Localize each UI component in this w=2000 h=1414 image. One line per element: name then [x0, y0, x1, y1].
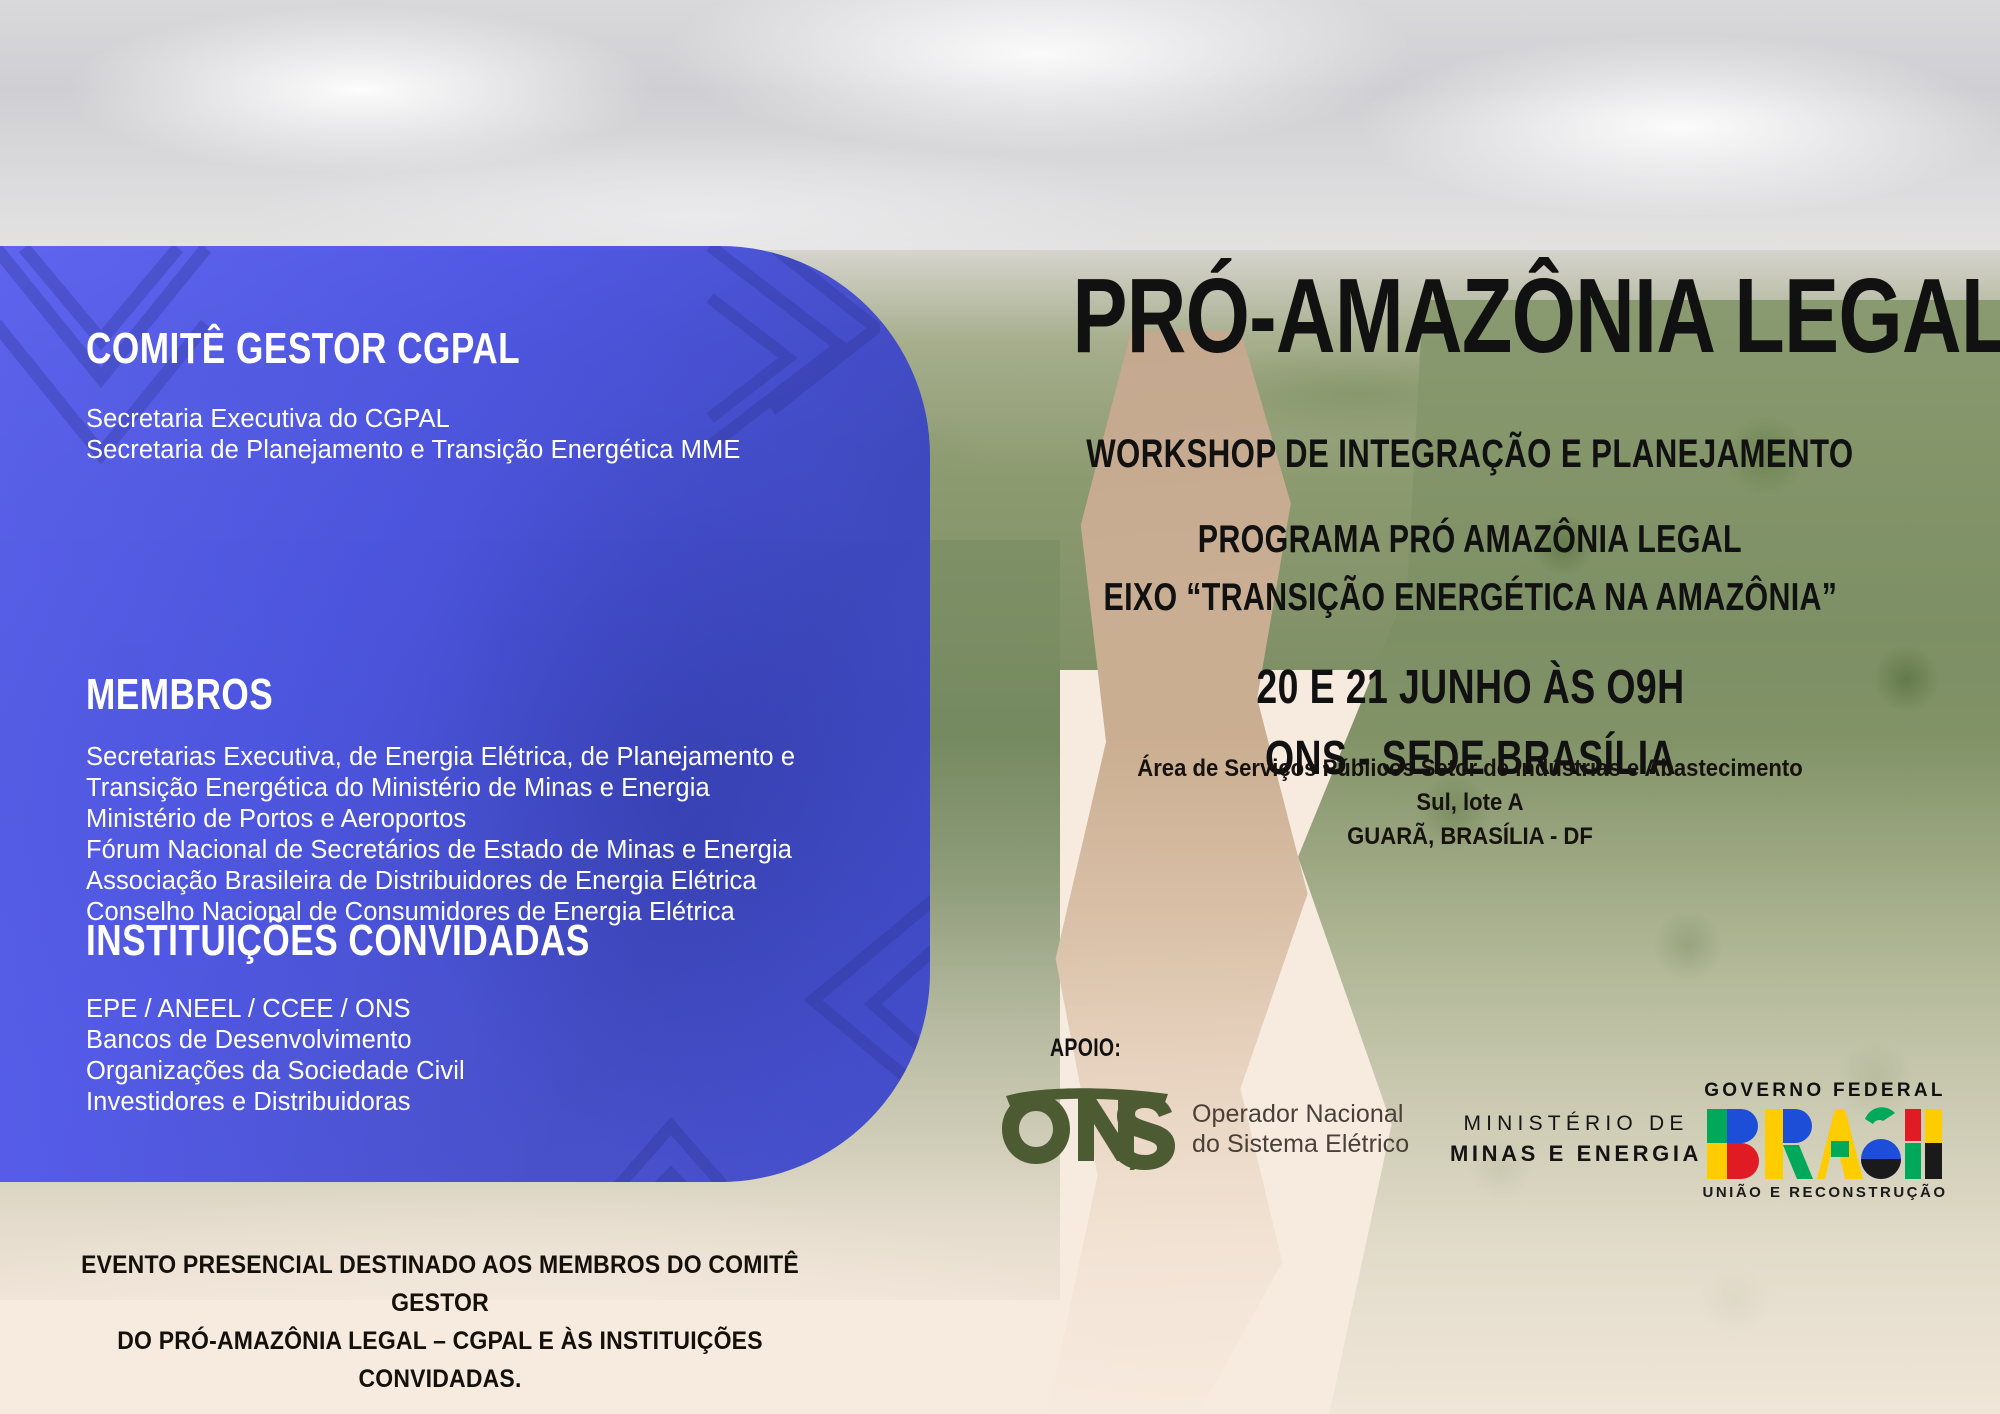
members-lines: Secretarias Executiva, de Energia Elétri… — [86, 742, 795, 928]
invited-line: Investidores e Distribuidoras — [86, 1087, 465, 1118]
committee-line: Secretaria Executiva do CGPAL — [86, 404, 740, 435]
ons-mark-icon — [1000, 1088, 1176, 1170]
program-line-1: PROGRAMA PRÓ AMAZÔNIA LEGAL — [940, 518, 2000, 562]
invited-line: EPE / ANEEL / CCEE / ONS — [86, 994, 465, 1025]
members-heading: MEMBROS — [86, 670, 273, 720]
ons-line-2: do Sistema Elétrico — [1192, 1129, 1409, 1160]
mme-logo: MINISTÉRIO DE MINAS E ENERGIA — [1450, 1112, 1702, 1167]
logo-row: Operador Nacional do Sistema Elétrico MI… — [1000, 1080, 2000, 1210]
address-line: Sul, lote A — [982, 786, 1957, 820]
committee-line: Secretaria de Planejamento e Transição E… — [86, 435, 740, 466]
member-line: Ministério de Portos e Aeroportos — [86, 804, 795, 835]
poster-title-text: PRÓ-AMAZÔNIA LEGAL — [1072, 263, 2000, 369]
brasil-mark-icon — [1705, 1107, 1945, 1181]
chevron-up-icon — [556, 1086, 786, 1182]
poster-subtitle-text: WORKSHOP DE INTEGRAÇÃO E PLANEJAMENTO — [1086, 434, 1853, 474]
mme-line-2: MINAS E ENERGIA — [1450, 1141, 1702, 1167]
mme-line-1: MINISTÉRIO DE — [1450, 1112, 1702, 1136]
gov-bottom-text: UNIÃO E RECONSTRUÇÃO — [1700, 1184, 1950, 1201]
event-address: Área de Serviços Públicos Setor de Indús… — [940, 752, 2000, 854]
event-poster: COMITÊ GESTOR CGPAL Secretaria Executiva… — [0, 0, 2000, 1414]
address-line: GUARÃ, BRASÍLIA - DF — [982, 820, 1957, 854]
member-line: Secretarias Executiva, de Energia Elétri… — [86, 742, 795, 773]
program-block: PROGRAMA PRÓ AMAZÔNIA LEGAL EIXO “TRANSI… — [940, 518, 2000, 634]
poster-subtitle: WORKSHOP DE INTEGRAÇÃO E PLANEJAMENTO — [940, 432, 2000, 477]
address-line: Área de Serviços Públicos Setor de Indús… — [982, 752, 1957, 786]
main-content: PRÓ-AMAZÔNIA LEGAL WORKSHOP DE INTEGRAÇÃ… — [940, 0, 2000, 1414]
cgpal-panel: COMITÊ GESTOR CGPAL Secretaria Executiva… — [0, 246, 930, 1182]
chevron-down-icon — [0, 246, 216, 528]
poster-title: PRÓ-AMAZÔNIA LEGAL — [940, 256, 2000, 377]
invited-line: Organizações da Sociedade Civil — [86, 1056, 465, 1087]
ons-wordmark: Operador Nacional do Sistema Elétrico — [1192, 1099, 1409, 1160]
program-line-2: EIXO “TRANSIÇÃO ENERGÉTICA NA AMAZÔNIA” — [940, 576, 2000, 620]
invited-line: Bancos de Desenvolvimento — [86, 1025, 465, 1056]
ons-logo: Operador Nacional do Sistema Elétrico — [1000, 1088, 1409, 1170]
committee-heading: COMITÊ GESTOR CGPAL — [86, 324, 520, 374]
gov-top-text: GOVERNO FEDERAL — [1700, 1080, 1950, 1102]
event-date: 20 E 21 JUNHO ÀS O9H — [940, 660, 2000, 715]
governo-federal-logo: GOVERNO FEDERAL — [1700, 1080, 1950, 1201]
footer-line-1: EVENTO PRESENCIAL DESTINADO AOS MEMBROS … — [0, 1246, 880, 1322]
invited-lines: EPE / ANEEL / CCEE / ONS Bancos de Desen… — [86, 994, 465, 1118]
committee-lines: Secretaria Executiva do CGPAL Secretaria… — [86, 404, 740, 466]
support-label: APOIO: — [1050, 1034, 1141, 1063]
footer-note: EVENTO PRESENCIAL DESTINADO AOS MEMBROS … — [0, 1246, 880, 1398]
member-line: Fórum Nacional de Secretários de Estado … — [86, 835, 795, 866]
member-line: Associação Brasileira de Distribuidores … — [86, 866, 795, 897]
ons-line-1: Operador Nacional — [1192, 1099, 1409, 1130]
invited-heading: INSTITUIÇÕES CONVIDADAS — [86, 916, 590, 966]
footer-line-2: DO PRÓ-AMAZÔNIA LEGAL – CGPAL E ÀS INSTI… — [0, 1322, 880, 1398]
member-line: Transição Energética do Ministério de Mi… — [86, 773, 795, 804]
